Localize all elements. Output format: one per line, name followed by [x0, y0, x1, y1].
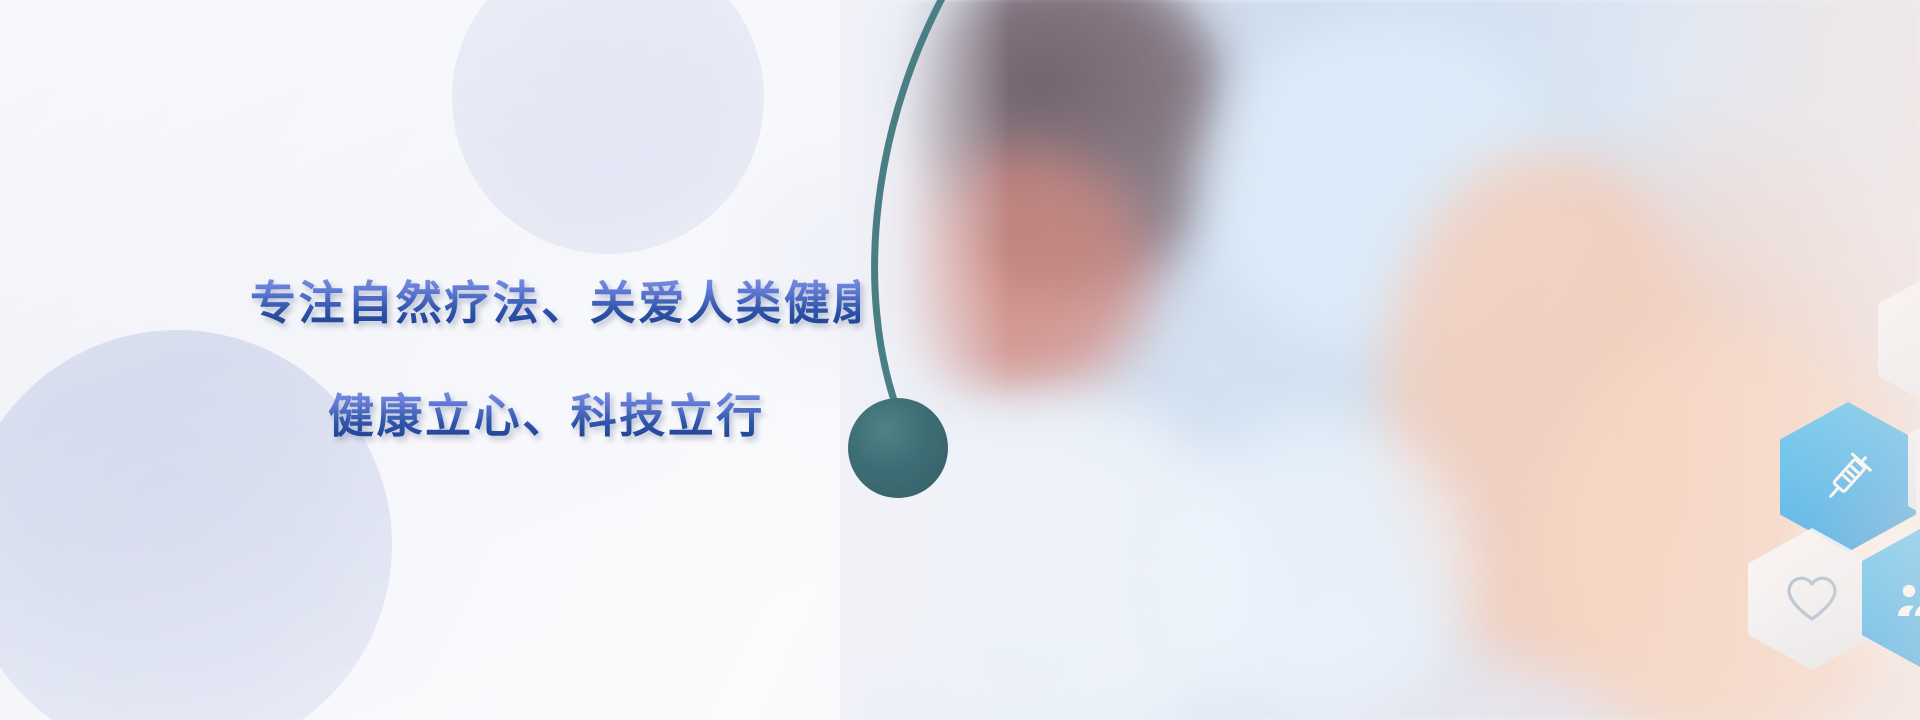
first-aid-kit-icon: [1908, 398, 1920, 542]
hexagon-icon-cluster: [1740, 0, 1920, 720]
doctor-photo: [840, 0, 1920, 720]
headline-secondary: 健康立心、科技立行: [328, 391, 860, 442]
photo-blur-cheek: [900, 150, 1150, 400]
test-tubes-icon: [1878, 268, 1920, 412]
headline-block: 专注自然疗法、关爱人类健康 健康立心、科技立行: [0, 0, 860, 720]
photo-blur-light: [1170, 420, 1470, 720]
stethoscope-chestpiece: [848, 398, 948, 498]
people-group-icon: [1862, 524, 1920, 672]
heart-icon: [1748, 528, 1876, 670]
syringe-icon: [1780, 402, 1916, 552]
headline-primary: 专注自然疗法、关爱人类健康: [250, 278, 860, 329]
hero-banner: 专注自然疗法、关爱人类健康 健康立心、科技立行: [0, 0, 1920, 720]
